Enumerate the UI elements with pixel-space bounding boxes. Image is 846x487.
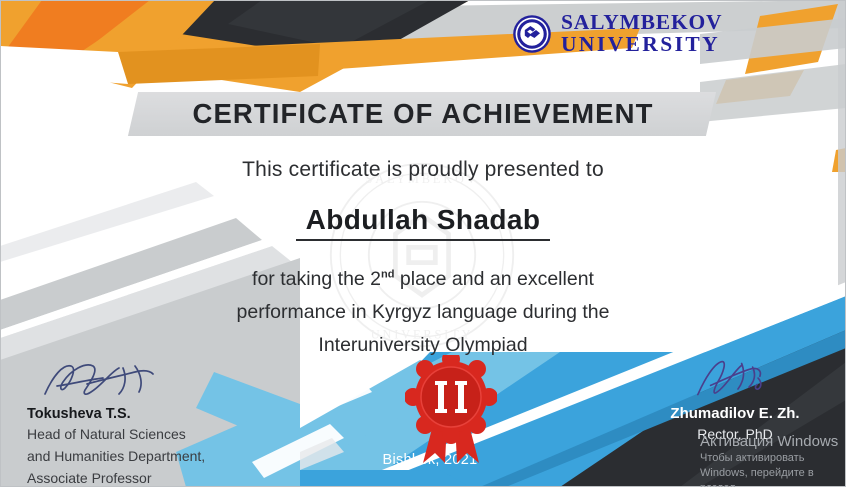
salymbekov-university-seal-icon [512,14,552,54]
signature-role-line-3: Associate Professor [27,467,205,487]
recipient-name: Abdullah Shadab [306,204,541,235]
ordinal-suffix: nd [381,269,394,281]
signature-block-right: Zhumadilov E. Zh. Rector, PhD [640,358,830,445]
brand-line-1: SALYMBEKOV [561,12,722,34]
reason-line-1-pre: for taking the 2 [252,268,381,290]
signature-name: Tokusheva T.S. [27,405,205,423]
signature-role-line-1: Head of Natural Sciences [27,423,205,445]
signature-name: Zhumadilov E. Zh. [640,405,830,423]
achievement-reason: for taking the 2nd place and an excellen… [0,263,846,362]
certificate-page: SALYMBEKOV UNIVERSITY SALYMBEKOV UNIVERS… [0,0,846,487]
certificate-body: This certificate is proudly presented to… [0,158,846,362]
presented-line: This certificate is proudly presented to [0,158,846,182]
brand-name: SALYMBEKOV UNIVERSITY [561,12,722,56]
signature-block-left: Tokusheva T.S. Head of Natural Sciences … [27,358,205,487]
reason-line-1-post: place and an excellent [394,268,593,290]
handwritten-signature-icon [27,358,187,400]
signature-role-line-1: Rector, PhD [640,423,830,445]
rosette-body [405,355,497,444]
brand-line-2: UNIVERSITY [561,34,722,56]
signature-role-line-2: and Humanities Department, [27,445,205,467]
page-title: CERTIFICATE OF ACHIEVEMENT [0,94,846,134]
second-place-rosette-icon [405,355,497,467]
brand-lockup: SALYMBEKOV UNIVERSITY [512,12,722,56]
recipient-name-underline: Abdullah Shadab [296,204,551,241]
reason-line-2: performance in Kyrgyz language during th… [0,296,846,329]
reason-line-1: for taking the 2nd place and an excellen… [0,263,846,296]
handwritten-signature-icon [668,358,808,400]
